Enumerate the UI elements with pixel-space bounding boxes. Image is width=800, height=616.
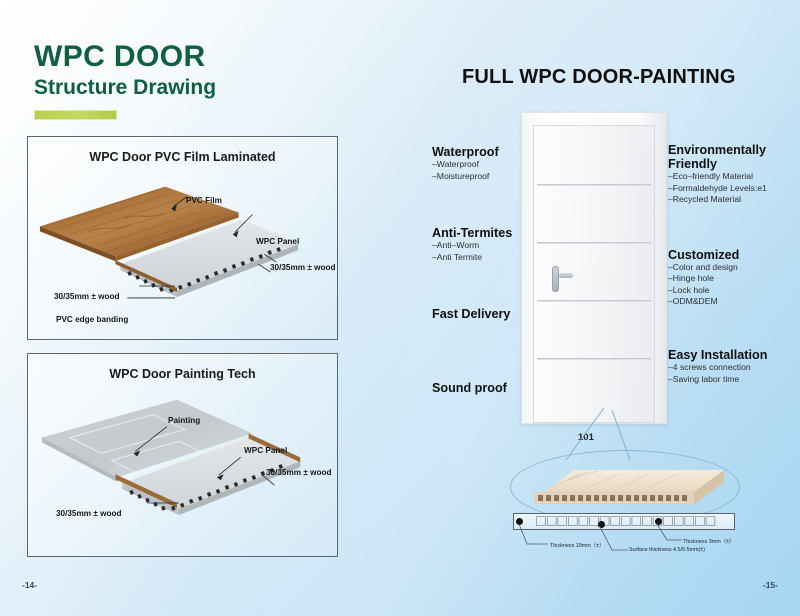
panel1-label-edge-banding: PVC edge banding (56, 315, 128, 324)
feature-heading: Environmentally Friendly (668, 143, 798, 171)
door-leaf (533, 125, 655, 423)
feature-customized: Customized –Color and design –Hinge hole… (668, 248, 798, 308)
door-groove-line (537, 242, 651, 244)
title-accent-bar (34, 110, 117, 120)
annotation-surface-thickness: Surface thickness 4.5/6.5mm(±) (629, 547, 705, 553)
feature-column-right: Environmentally Friendly –Eco–friendly M… (668, 143, 798, 387)
page-title: WPC DOOR Structure Drawing (34, 42, 216, 98)
panel1-label-wpc-panel: WPC Panel (256, 237, 299, 246)
door-groove-line (537, 358, 651, 360)
feature-item: –Lock hole (668, 285, 798, 297)
feature-heading: Customized (668, 248, 798, 262)
title-subtitle: Structure Drawing (34, 77, 216, 98)
panel2-figure (28, 354, 337, 557)
feature-item: –Recycled Material (668, 194, 798, 206)
panel2-label-thickness-right: 30/35mm ± wood (266, 468, 331, 477)
door-groove-line (537, 300, 651, 302)
feature-heading: Easy Installation (668, 348, 798, 362)
feature-item: –Eco–friendly Material (668, 171, 798, 183)
door-illustration (521, 112, 667, 424)
right-page-title: FULL WPC DOOR-PAINTING (462, 66, 736, 89)
panel1-label-pvc-film: PVC Film (186, 196, 222, 205)
page-number-right: -15- (763, 580, 778, 590)
annotation-thickness-3mm: Thickness 3mm（±） (683, 537, 734, 545)
feature-item: –Hinge hole (668, 273, 798, 285)
panel1-label-thickness-left: 30/35mm ± wood (54, 292, 119, 301)
panel2-label-wpc-panel: WPC Panel (244, 446, 287, 455)
panel-pvc-film-laminated: WPC Door PVC Film Laminated (27, 136, 338, 340)
feature-easy-installation: Easy Installation –4 screws connection –… (668, 348, 798, 385)
page-number-left: -14- (22, 580, 37, 590)
feature-environmentally-friendly: Environmentally Friendly –Eco–friendly M… (668, 143, 798, 206)
panel2-label-painting: Painting (168, 416, 200, 425)
feature-item: –Formaldehyde Levels:e1 (668, 183, 798, 195)
panel2-label-thickness-left: 30/35mm ± wood (56, 509, 121, 518)
slide-page: WPC DOOR Structure Drawing WPC Door PVC … (0, 0, 800, 616)
panel1-label-thickness-right: 30/35mm ± wood (270, 263, 335, 272)
feature-item: –4 screws connection (668, 362, 798, 374)
panel-painting-tech: WPC Door Painting Tech (27, 353, 338, 557)
feature-item: –Saving labor time (668, 374, 798, 386)
core-board-figure (528, 462, 724, 514)
door-frame (521, 112, 667, 424)
annotation-leader-lines (500, 520, 780, 570)
annotation-thickness-19mm: Thickness 19mm（±） (550, 541, 604, 549)
door-handle-icon (552, 266, 559, 292)
door-groove-line (537, 184, 651, 186)
feature-item: –Color and design (668, 262, 798, 274)
feature-item: –ODM&DEM (668, 296, 798, 308)
title-main: WPC DOOR (34, 42, 216, 72)
